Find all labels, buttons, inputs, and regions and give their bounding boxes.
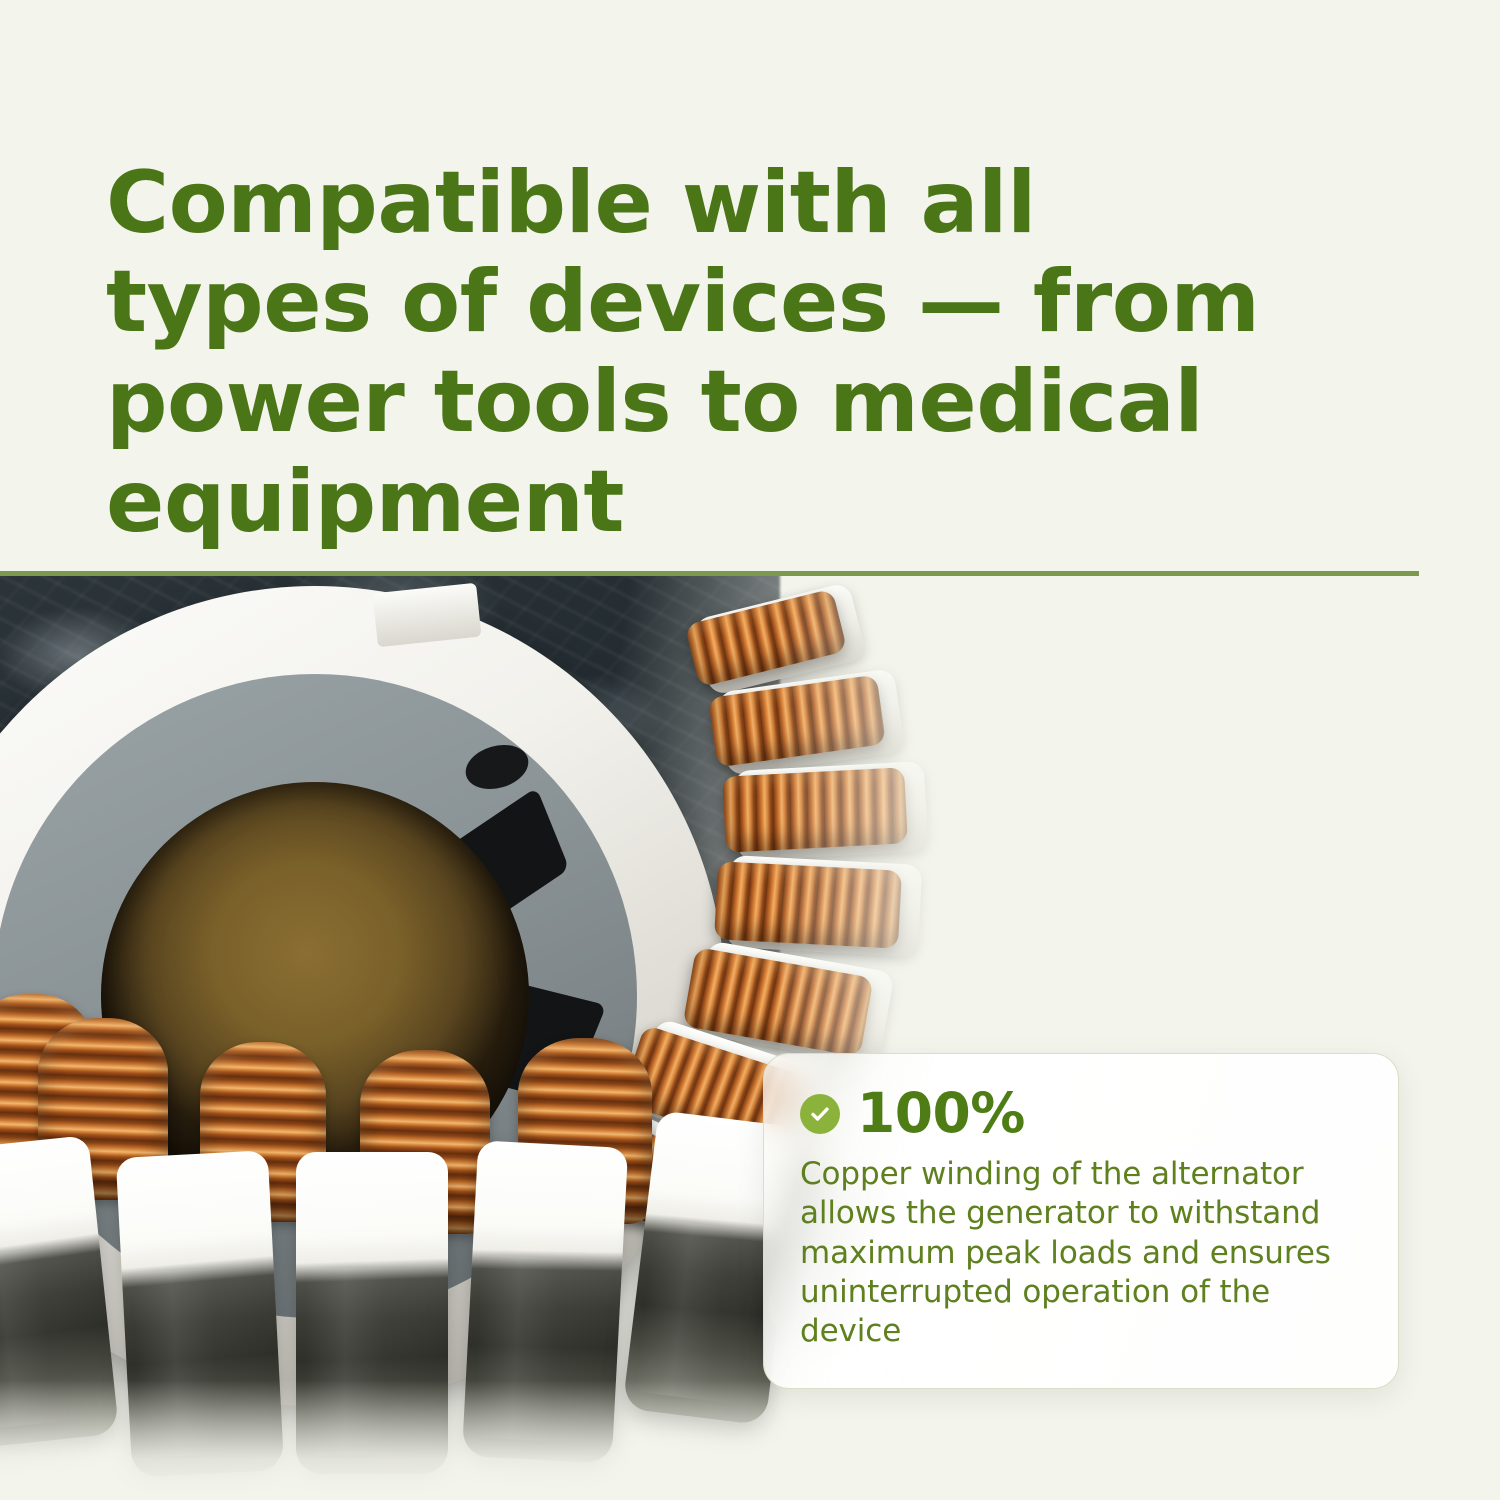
stator-tooth bbox=[116, 1150, 285, 1478]
info-card-header: 100% bbox=[800, 1086, 1372, 1141]
slide-root: Compatible with all types of devices — f… bbox=[0, 0, 1500, 1500]
percent-value: 100% bbox=[857, 1086, 1025, 1141]
stator-tooth bbox=[296, 1152, 448, 1474]
info-card: 100% Copper winding of the alternator al… bbox=[763, 1053, 1399, 1389]
copper-coil bbox=[722, 767, 908, 852]
stator-tooth bbox=[462, 1140, 628, 1463]
check-circle-icon bbox=[800, 1094, 840, 1134]
stator-lug bbox=[372, 583, 481, 648]
page-title: Compatible with all types of devices — f… bbox=[106, 154, 1316, 553]
info-card-body-text: Copper winding of the alternator allows … bbox=[800, 1155, 1372, 1352]
copper-coil bbox=[714, 861, 902, 949]
